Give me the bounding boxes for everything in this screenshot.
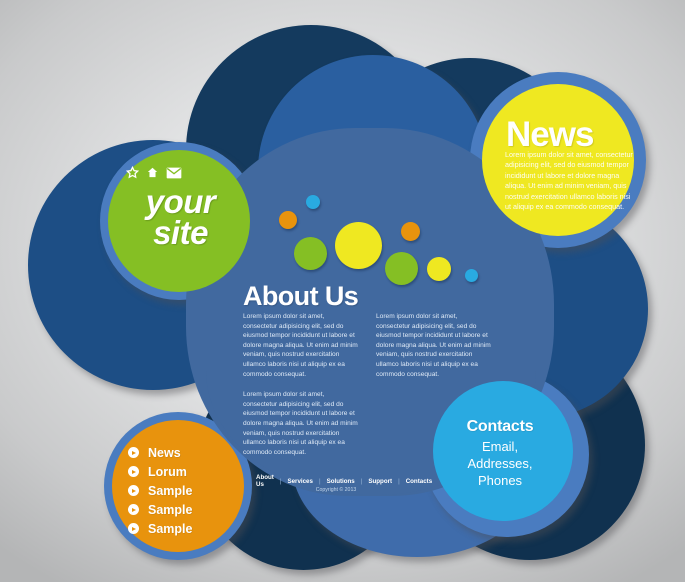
arrow-bullet-icon bbox=[128, 466, 139, 477]
footer-nav-separator: | bbox=[319, 478, 321, 485]
menu-item-label: News bbox=[148, 446, 181, 460]
dot-orange-right bbox=[401, 222, 420, 241]
dot-cyan-bottom-right bbox=[465, 269, 478, 282]
footer-nav-link[interactable]: Contacts bbox=[406, 478, 432, 485]
about-paragraph: Lorem ipsum dolor sit amet, consectetur … bbox=[243, 390, 360, 457]
brand-line-1: your bbox=[118, 186, 243, 217]
dot-green-large-left bbox=[294, 237, 327, 270]
contacts-line-addresses: Addresses, bbox=[438, 455, 562, 472]
star-icon[interactable] bbox=[126, 166, 139, 179]
brand-line-2: site bbox=[118, 217, 243, 248]
footer-nav-link[interactable]: Support bbox=[368, 478, 392, 485]
menu-item[interactable]: News bbox=[128, 443, 248, 462]
footer-nav-separator: | bbox=[280, 478, 282, 485]
arrow-bullet-icon bbox=[128, 504, 139, 515]
about-paragraph: Lorem ipsum dolor sit amet, consectetur … bbox=[376, 312, 493, 379]
menu-item-label: Lorum bbox=[148, 465, 187, 479]
about-paragraph: Lorem ipsum dolor sit amet, consectetur … bbox=[243, 312, 360, 379]
news-body-text: Lorem ipsum dolor sit amet, consectetur … bbox=[505, 150, 633, 212]
contacts-title: Contacts bbox=[438, 418, 562, 436]
menu-item[interactable]: Lorum bbox=[128, 462, 248, 481]
news-title: News bbox=[506, 115, 593, 155]
arrow-bullet-icon bbox=[128, 447, 139, 458]
about-title: About Us bbox=[243, 281, 358, 312]
footer-nav-link[interactable]: About Us bbox=[256, 474, 274, 488]
footer-nav-separator: | bbox=[398, 478, 400, 485]
home-icon[interactable] bbox=[146, 166, 159, 179]
contacts-line-email: Email, bbox=[438, 438, 562, 455]
menu-item[interactable]: Sample bbox=[128, 500, 248, 519]
dot-yellow-large bbox=[335, 222, 382, 269]
brand-name: your site bbox=[118, 186, 243, 248]
dot-yellow-small bbox=[427, 257, 451, 281]
menu-item-label: Sample bbox=[148, 522, 192, 536]
arrow-bullet-icon bbox=[128, 523, 139, 534]
sidebar-menu-list: NewsLorumSampleSampleSample bbox=[128, 443, 248, 538]
footer-navigation: About Us|Services|Solutions|Support|Cont… bbox=[256, 474, 416, 488]
contacts-line-phones: Phones bbox=[438, 472, 562, 489]
about-column-1: Lorem ipsum dolor sit amet, consectetur … bbox=[243, 312, 360, 468]
menu-item-label: Sample bbox=[148, 503, 192, 517]
brand-icon-row bbox=[126, 166, 234, 179]
contacts-lines: Email, Addresses, Phones bbox=[438, 438, 562, 489]
menu-item-label: Sample bbox=[148, 484, 192, 498]
dot-orange-small-left bbox=[279, 211, 297, 229]
menu-item[interactable]: Sample bbox=[128, 481, 248, 500]
copyright-text: Copyright © 2013 bbox=[256, 487, 416, 493]
dot-green-right bbox=[385, 252, 418, 285]
footer-nav-link[interactable]: Solutions bbox=[327, 478, 355, 485]
footer-nav-separator: | bbox=[361, 478, 363, 485]
dot-cyan-top bbox=[306, 195, 320, 209]
contacts-content: Contacts Email, Addresses, Phones bbox=[438, 418, 562, 489]
envelope-icon[interactable] bbox=[166, 167, 182, 179]
menu-item[interactable]: Sample bbox=[128, 519, 248, 538]
footer-nav-link[interactable]: Services bbox=[287, 478, 312, 485]
arrow-bullet-icon bbox=[128, 485, 139, 496]
flower-layout-canvas: your site News Lorem ipsum dolor sit ame… bbox=[0, 0, 685, 582]
